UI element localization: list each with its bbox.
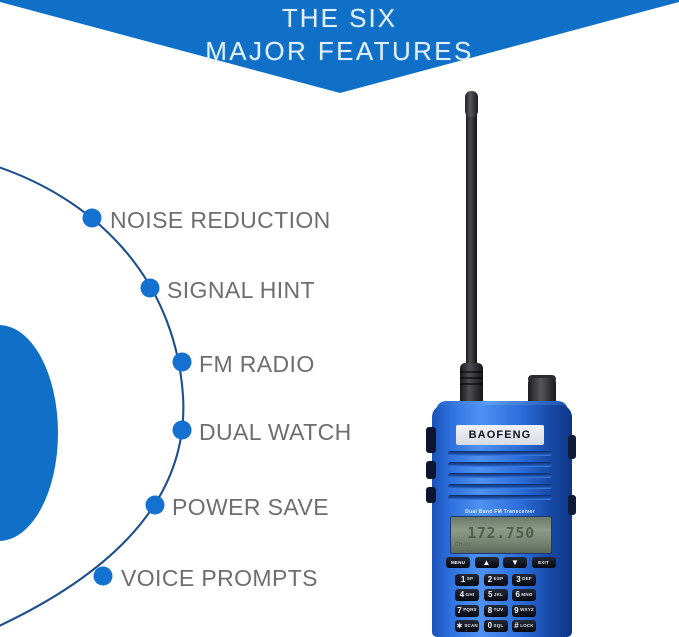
key-secondary-label: LOCK	[520, 624, 534, 629]
key-exit[interactable]: EXIT	[532, 557, 556, 568]
speaker-grille-slot	[448, 495, 552, 500]
key-main-label: 9	[514, 607, 518, 615]
antenna-ring-3	[460, 383, 483, 385]
key-secondary-label: JKL	[494, 593, 503, 598]
antenna-ring-2	[460, 377, 483, 379]
key-[interactable]: ▼	[503, 557, 527, 568]
key-secondary-label: MNO	[521, 593, 532, 598]
key-secondary-label: GHI	[466, 593, 475, 598]
speaker-grille-slot	[448, 451, 552, 456]
key-main-label: 4	[460, 591, 464, 599]
key-secondary-label: SCAN	[464, 624, 478, 629]
key-main-label: 6	[515, 591, 519, 599]
key-label: ▼	[511, 559, 519, 567]
speaker-grille-slot	[448, 473, 552, 478]
key-#[interactable]: #LOCK	[512, 620, 536, 632]
antenna-ring-1	[460, 371, 483, 373]
key-main-label: 8	[488, 607, 492, 615]
key-secondary-label: WXYZ	[520, 608, 534, 613]
infographic-canvas: THE SIX MAJOR FEATURES NOISE REDUCTIONSI…	[0, 0, 679, 637]
key-label: MENU	[451, 560, 465, 565]
key-secondary-label: SQL	[494, 624, 504, 629]
side-button-right[interactable]	[568, 435, 576, 459]
key-menu[interactable]: MENU	[446, 557, 470, 568]
ptt-side-button[interactable]	[426, 427, 436, 453]
key-main-label: 2	[488, 576, 492, 584]
feature-dot[interactable]	[94, 567, 113, 586]
side-button-right[interactable]	[568, 495, 576, 515]
key-main-label: ∗	[456, 622, 463, 630]
key-2[interactable]: 2ESP	[484, 574, 508, 586]
key-main-label: #	[514, 622, 518, 630]
key-[interactable]: ▲	[475, 557, 499, 568]
key-5[interactable]: 5JKL	[484, 589, 508, 601]
feature-label-4: POWER SAVE	[172, 496, 329, 519]
key-∗[interactable]: ∗SCAN	[455, 620, 479, 632]
key-secondary-label: TUV	[494, 608, 504, 613]
brand-label: BAOFENG	[469, 429, 532, 441]
key-label: EXIT	[538, 560, 549, 565]
feature-label-3: DUAL WATCH	[199, 421, 352, 444]
lcd-channel-value: CH-01	[455, 542, 547, 548]
key-main-label: 5	[488, 591, 492, 599]
key-4[interactable]: 4GHI	[455, 589, 479, 601]
speaker-grille	[448, 451, 552, 507]
lcd-display: 172.750 CH-01	[450, 516, 552, 554]
feature-dot[interactable]	[141, 279, 160, 298]
key-8[interactable]: 8TUV	[484, 605, 508, 617]
feature-label-2: FM RADIO	[199, 353, 315, 376]
speaker-grille-slot	[448, 462, 552, 467]
key-secondary-label: DEF	[522, 577, 532, 582]
lcd-caption-text: Dual Band FM Transceiver	[452, 509, 548, 515]
feature-label-0: NOISE REDUCTION	[110, 209, 331, 232]
key-main-label: 1	[461, 576, 465, 584]
keypad: MENU▲▼EXIT1SP2ESP3DEF4GHI5JKL6MNO7PQRS8T…	[446, 557, 556, 633]
lcd-frequency-value: 172.750	[451, 524, 551, 542]
key-main-label: 7	[457, 607, 461, 615]
key-label: ▲	[483, 559, 491, 567]
feature-arc-curve	[0, 163, 183, 632]
baofeng-radio-image: BAOFENG Dual Band FM Transceiver 172.750…	[420, 95, 600, 637]
key-6[interactable]: 6MNO	[512, 589, 536, 601]
feature-dot[interactable]	[146, 496, 165, 515]
key-9[interactable]: 9WXYZ	[512, 605, 536, 617]
key-secondary-label: ESP	[494, 577, 504, 582]
feature-label-1: SIGNAL HINT	[167, 279, 315, 302]
brand-plate: BAOFENG	[456, 425, 544, 445]
key-3[interactable]: 3DEF	[512, 574, 536, 586]
ptt-side-button[interactable]	[426, 487, 436, 503]
key-1[interactable]: 1SP	[455, 574, 479, 586]
antenna-shaft	[466, 95, 477, 395]
ptt-side-button[interactable]	[426, 461, 436, 479]
key-7[interactable]: 7PQRS	[455, 605, 479, 617]
key-secondary-label: PQRS	[463, 608, 477, 613]
key-main-label: 0	[488, 622, 492, 630]
feature-dot[interactable]	[173, 353, 192, 372]
feature-label-5: VOICE PROMPTS	[121, 567, 318, 590]
key-secondary-label: SP	[467, 577, 473, 582]
key-main-label: 3	[516, 576, 520, 584]
feature-dot[interactable]	[83, 209, 102, 228]
feature-dot[interactable]	[173, 421, 192, 440]
antenna-tip	[465, 91, 478, 117]
speaker-grille-slot	[448, 484, 552, 489]
key-0[interactable]: 0SQL	[484, 620, 508, 632]
